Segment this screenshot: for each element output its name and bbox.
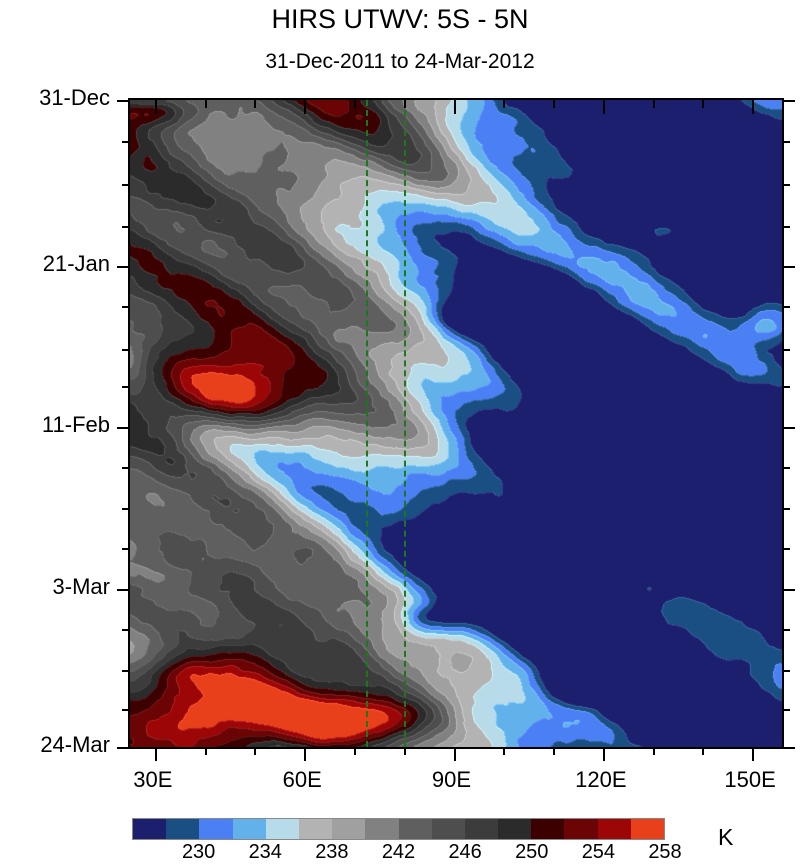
y-tick-major (782, 427, 795, 429)
y-tick-major (117, 589, 130, 591)
x-tick-major (155, 100, 157, 114)
colorbar-swatch (365, 819, 398, 839)
y-tick-major (117, 266, 130, 268)
y-tick-minor (122, 629, 130, 631)
x-tick-minor (653, 100, 655, 108)
y-axis-label: 21-Jan (43, 251, 110, 277)
colorbar-swatch (564, 819, 597, 839)
y-tick-minor (782, 670, 790, 672)
x-tick-minor (503, 747, 505, 755)
x-tick-minor (653, 747, 655, 755)
y-tick-minor (782, 709, 790, 711)
y-tick-minor (122, 349, 130, 351)
colorbar-swatch (432, 819, 465, 839)
colorbar-swatch (299, 819, 332, 839)
colorbar-tick-label: 230 (182, 841, 215, 864)
y-tick-minor (122, 670, 130, 672)
colorbar-tick-label: 250 (515, 841, 548, 864)
colorbar-tick-label: 238 (315, 841, 348, 864)
colorbar-swatch (631, 819, 664, 839)
y-axis-label: 24-Mar (40, 732, 110, 758)
y-tick-minor (122, 467, 130, 469)
y-tick-minor (122, 709, 130, 711)
x-tick-major (454, 747, 456, 761)
y-tick-major (782, 589, 795, 591)
x-tick-major (752, 100, 754, 114)
y-axis-label: 3-Mar (53, 574, 110, 600)
x-tick-minor (702, 747, 704, 755)
y-tick-minor (782, 349, 790, 351)
y-tick-minor (782, 306, 790, 308)
x-axis-label: 30E (133, 767, 172, 793)
y-tick-major (117, 427, 130, 429)
y-tick-minor (782, 467, 790, 469)
y-tick-minor (782, 226, 790, 228)
colorbar-swatch (266, 819, 299, 839)
x-tick-major (454, 100, 456, 114)
x-tick-minor (205, 100, 207, 108)
x-tick-major (603, 100, 605, 114)
y-tick-minor (782, 548, 790, 550)
colorbar-tick-label: 254 (582, 841, 615, 864)
x-tick-minor (354, 100, 356, 108)
y-tick-major (782, 100, 795, 102)
y-tick-minor (122, 508, 130, 510)
x-axis-label: 60E (283, 767, 322, 793)
y-tick-minor (782, 184, 790, 186)
colorbar-swatch (199, 819, 232, 839)
y-tick-minor (782, 629, 790, 631)
x-axis-label: 120E (575, 767, 626, 793)
x-tick-minor (205, 747, 207, 755)
x-tick-minor (404, 100, 406, 108)
hovmoller-plot (128, 98, 784, 749)
y-tick-minor (122, 141, 130, 143)
y-tick-minor (122, 184, 130, 186)
colorbar-tick-label: 246 (448, 841, 481, 864)
x-tick-minor (702, 100, 704, 108)
x-tick-major (155, 747, 157, 761)
x-tick-major (304, 100, 306, 114)
colorbar-swatch (332, 819, 365, 839)
page-subtitle: 31-Dec-2011 to 24-Mar-2012 (0, 50, 800, 74)
colorbar-unit-label: K (718, 824, 733, 851)
green-dashed-line-left (366, 100, 368, 747)
colorbar-swatch (399, 819, 432, 839)
y-tick-minor (122, 306, 130, 308)
y-tick-major (782, 747, 795, 749)
colorbar-tick-label: 242 (382, 841, 415, 864)
y-tick-minor (122, 548, 130, 550)
y-tick-major (117, 747, 130, 749)
x-axis-label: 90E (432, 767, 471, 793)
colorbar-swatch (133, 819, 166, 839)
x-axis-label: 150E (724, 767, 775, 793)
colorbar-swatch (465, 819, 498, 839)
x-tick-minor (254, 747, 256, 755)
y-axis-label: 11-Feb (42, 412, 110, 438)
y-tick-major (782, 266, 795, 268)
green-dashed-line-right (404, 100, 406, 747)
y-tick-minor (782, 508, 790, 510)
y-tick-minor (782, 386, 790, 388)
y-tick-minor (782, 141, 790, 143)
x-tick-minor (404, 747, 406, 755)
x-tick-minor (503, 100, 505, 108)
colorbar-tick-label: 258 (648, 841, 681, 864)
y-tick-minor (122, 386, 130, 388)
x-tick-minor (254, 100, 256, 108)
colorbar-swatch (598, 819, 631, 839)
x-tick-minor (354, 747, 356, 755)
y-tick-major (117, 100, 130, 102)
colorbar[interactable] (132, 818, 665, 840)
colorbar-swatch (233, 819, 266, 839)
colorbar-swatch (531, 819, 564, 839)
x-tick-major (752, 747, 754, 761)
y-tick-minor (122, 226, 130, 228)
colorbar-swatch (498, 819, 531, 839)
colorbar-swatch (166, 819, 199, 839)
contour-field-canvas (130, 100, 782, 747)
x-tick-minor (553, 100, 555, 108)
y-axis-label: 31-Dec (39, 85, 110, 111)
x-tick-major (603, 747, 605, 761)
colorbar-tick-label: 234 (249, 841, 282, 864)
page-title: HIRS UTWV: 5S - 5N (0, 4, 800, 35)
x-tick-major (304, 747, 306, 761)
x-tick-minor (553, 747, 555, 755)
